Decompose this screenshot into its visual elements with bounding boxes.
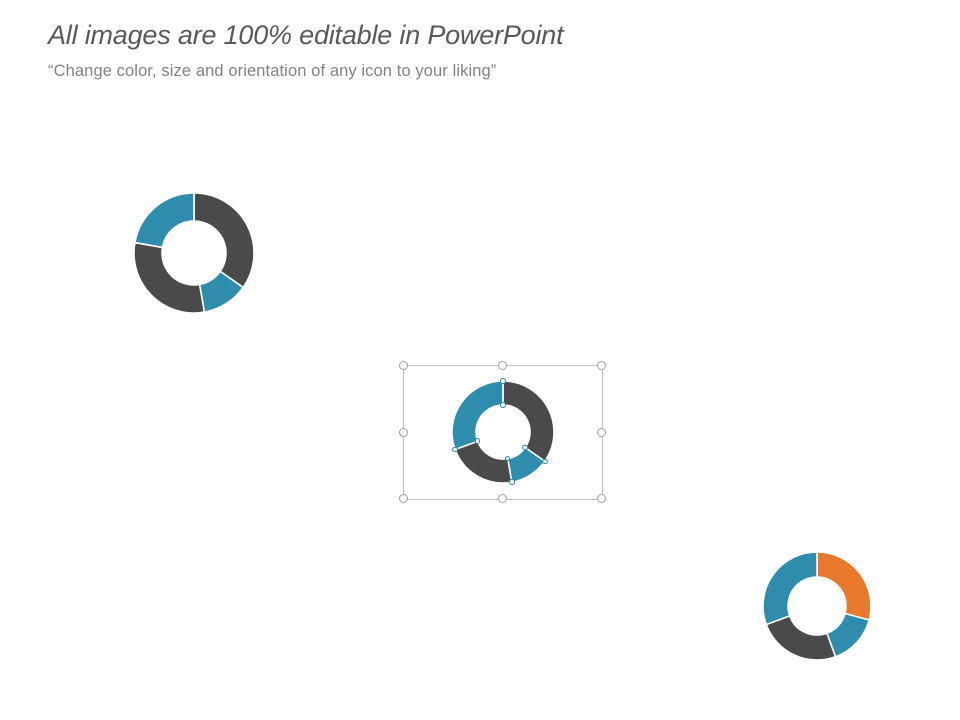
resize-handle-top-right[interactable]: [597, 361, 606, 370]
resize-handle-bottom-right[interactable]: [597, 494, 606, 503]
resize-handle-top-center[interactable]: [498, 361, 507, 370]
donut-3-segment-1[interactable]: [817, 552, 871, 620]
slide-canvas: All images are 100% editable in PowerPoi…: [0, 0, 960, 720]
resize-handle-middle-left[interactable]: [399, 428, 408, 437]
resize-handle-middle-right[interactable]: [597, 428, 606, 437]
resize-handle-top-left[interactable]: [399, 361, 408, 370]
donut-3-segment-3[interactable]: [766, 616, 835, 660]
donut-chart-1[interactable]: [134, 193, 254, 313]
resize-handle-bottom-left[interactable]: [399, 494, 408, 503]
donut-chart-3[interactable]: [763, 552, 871, 660]
donut-3-segment-4[interactable]: [763, 552, 817, 624]
page-title: All images are 100% editable in PowerPoi…: [48, 18, 928, 52]
donut-2-segment-3[interactable]: [455, 441, 512, 483]
page-subtitle: “Change color, size and orientation of a…: [48, 60, 928, 82]
donut-1-segment-4[interactable]: [135, 193, 194, 247]
donut-2-segment-4[interactable]: [452, 381, 503, 449]
donut-1-svg: [134, 193, 254, 313]
resize-handle-bottom-center[interactable]: [498, 494, 507, 503]
donut-2-svg: [452, 381, 554, 483]
donut-chart-2-selected[interactable]: [452, 381, 554, 483]
donut-1-segment-3[interactable]: [134, 243, 204, 313]
donut-3-svg: [763, 552, 871, 660]
slide-header: All images are 100% editable in PowerPoi…: [48, 18, 928, 82]
